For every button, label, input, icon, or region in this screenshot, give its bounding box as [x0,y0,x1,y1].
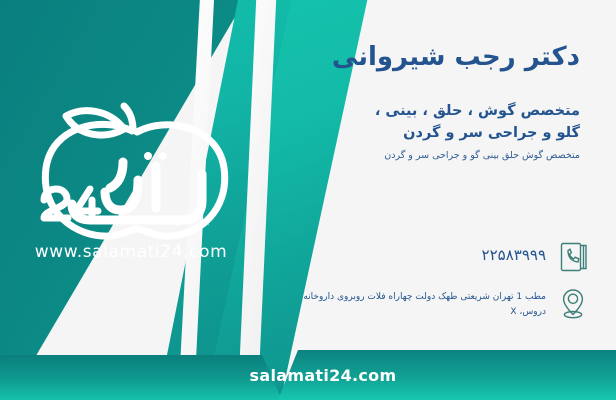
specialty-line-1: متخصص گوش ، حلق ، بینی ، [296,101,580,123]
specialty-subtext: متخصص گوش حلق بینی گو و جراحی سر و گردن [296,149,580,163]
specialty-line-2: گلو و جراحی سر و گردن [296,123,580,145]
phone-number: ۲۲۵۸۳۹۹۹ [288,240,546,264]
contact-list: ۲۲۵۸۳۹۹۹ مطب 1 تهران شریعتی طهک دولت چها… [288,240,588,332]
doctor-business-card: به راحتی یک لبخند www.salamati24.com دکت… [0,0,616,400]
map-pin-icon [558,286,588,320]
contact-row-address: مطب 1 تهران شریعتی طهک دولت چهاراه فلات … [288,286,588,320]
brand-logo: به راحتی یک لبخند www.salamati24.com [6,96,256,276]
brand-website: www.salamati24.com [6,242,256,262]
doctor-specialty: متخصص گوش ، حلق ، بینی ، گلو و جراحی سر … [296,101,580,145]
brand-tagline: به راحتی یک لبخند [114,216,234,227]
contact-row-phone: ۲۲۵۸۳۹۹۹ [288,240,588,274]
address-text: مطب 1 تهران شریعتی طهک دولت چهاراه فلات … [288,286,546,320]
footer-website: salamati24.com [0,350,616,400]
phone-book-icon [558,240,588,274]
doctor-name: دکتر رجب شیروانی [296,40,580,75]
